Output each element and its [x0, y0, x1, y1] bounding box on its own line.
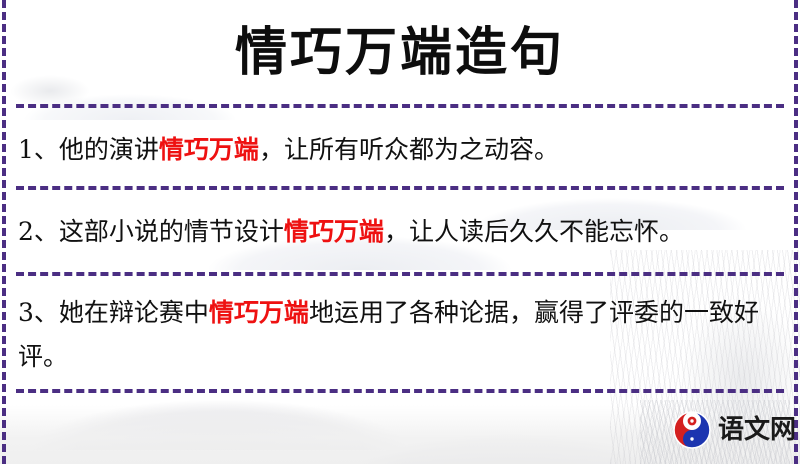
sentence-1-idiom: 情巧万端 [159, 135, 259, 164]
divider-1 [16, 104, 784, 108]
sentence-item-1: 1、他的演讲情巧万端，让所有听众都为之动容。 [18, 128, 788, 172]
page-border-right-dashed [794, 0, 798, 464]
sentence-1-text-after: ，让所有听众都为之动容。 [259, 135, 559, 164]
sentence-3-number: 3、 [18, 298, 59, 327]
sentence-1-text-before: 他的演讲 [59, 135, 159, 164]
site-name-label: 语文网 [718, 417, 796, 443]
sentence-item-2: 2、这部小说的情节设计情巧万端，让人读后久久不能忘怀。 [18, 210, 788, 254]
sentence-2-number: 2、 [18, 217, 59, 246]
sentence-worksheet-page: 情巧万端造句 1、他的演讲情巧万端，让所有听众都为之动容。 2、这部小说的情节设… [0, 0, 800, 464]
yinyang-circle-icon [672, 410, 712, 450]
sentence-item-3: 3、她在辩论赛中情巧万端地运用了各种论据，赢得了评委的一致好评。 [18, 291, 788, 379]
site-watermark-logo: 语文网 [672, 410, 796, 450]
sentence-2-text-before: 这部小说的情节设计 [59, 217, 284, 246]
page-title: 情巧万端造句 [0, 22, 800, 84]
divider-3 [16, 272, 784, 276]
divider-4 [16, 389, 784, 393]
sentence-3-text-before: 她在辩论赛中 [59, 298, 209, 327]
page-border-left-dashed [2, 0, 6, 464]
sentence-2-idiom: 情巧万端 [284, 217, 384, 246]
sentence-2-text-after: ，让人读后久久不能忘怀。 [384, 217, 684, 246]
divider-2 [16, 186, 784, 190]
sentence-1-number: 1、 [18, 135, 59, 164]
sentence-3-idiom: 情巧万端 [209, 298, 309, 327]
